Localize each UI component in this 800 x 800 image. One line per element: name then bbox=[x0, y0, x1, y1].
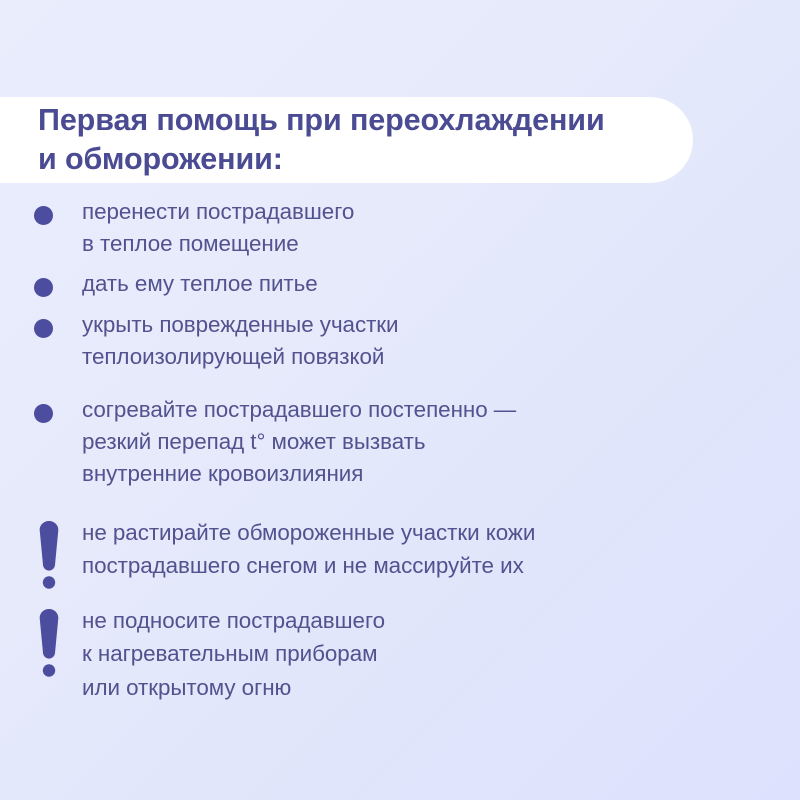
list-item: укрыть поврежденные участки теплоизолиру… bbox=[0, 309, 800, 373]
marker-slot bbox=[30, 268, 82, 269]
bullet-dot-icon bbox=[34, 404, 53, 423]
bullet-dot-icon bbox=[34, 278, 53, 297]
exclamation-icon bbox=[38, 609, 60, 677]
marker-slot bbox=[30, 516, 82, 517]
list-item-text: укрыть поврежденные участки теплоизолиру… bbox=[82, 309, 800, 373]
page-title: Первая помощь при переохлаждении и обмор… bbox=[38, 101, 605, 178]
list-item-text: не подносите пострадавшего к нагреватель… bbox=[82, 604, 800, 705]
bullet-dot-icon bbox=[34, 206, 53, 225]
list-item-warning: не подносите пострадавшего к нагреватель… bbox=[0, 604, 800, 705]
marker-slot bbox=[30, 196, 82, 197]
bullet-dot-icon bbox=[34, 319, 53, 338]
list-item-text: дать ему теплое питье bbox=[82, 268, 800, 300]
marker-slot bbox=[30, 394, 82, 395]
marker-slot bbox=[30, 309, 82, 310]
list-item: перенести пострадавшего в теплое помещен… bbox=[0, 196, 800, 260]
list-item-text: не растирайте обмороженные участки кожи … bbox=[82, 516, 800, 583]
list-item-text: перенести пострадавшего в теплое помещен… bbox=[82, 196, 800, 260]
exclamation-icon bbox=[38, 521, 60, 589]
list-item: согревайте пострадавшего постепенно — ре… bbox=[0, 394, 800, 491]
title-card: Первая помощь при переохлаждении и обмор… bbox=[0, 97, 693, 183]
list-item-warning: не растирайте обмороженные участки кожи … bbox=[0, 516, 800, 583]
marker-slot bbox=[30, 604, 82, 605]
list-item: дать ему теплое питье bbox=[0, 268, 800, 300]
list-item-text: согревайте пострадавшего постепенно — ре… bbox=[82, 394, 800, 491]
advice-list: перенести пострадавшего в теплое помещен… bbox=[0, 196, 800, 704]
poster-root: Первая помощь при переохлаждении и обмор… bbox=[0, 0, 800, 800]
